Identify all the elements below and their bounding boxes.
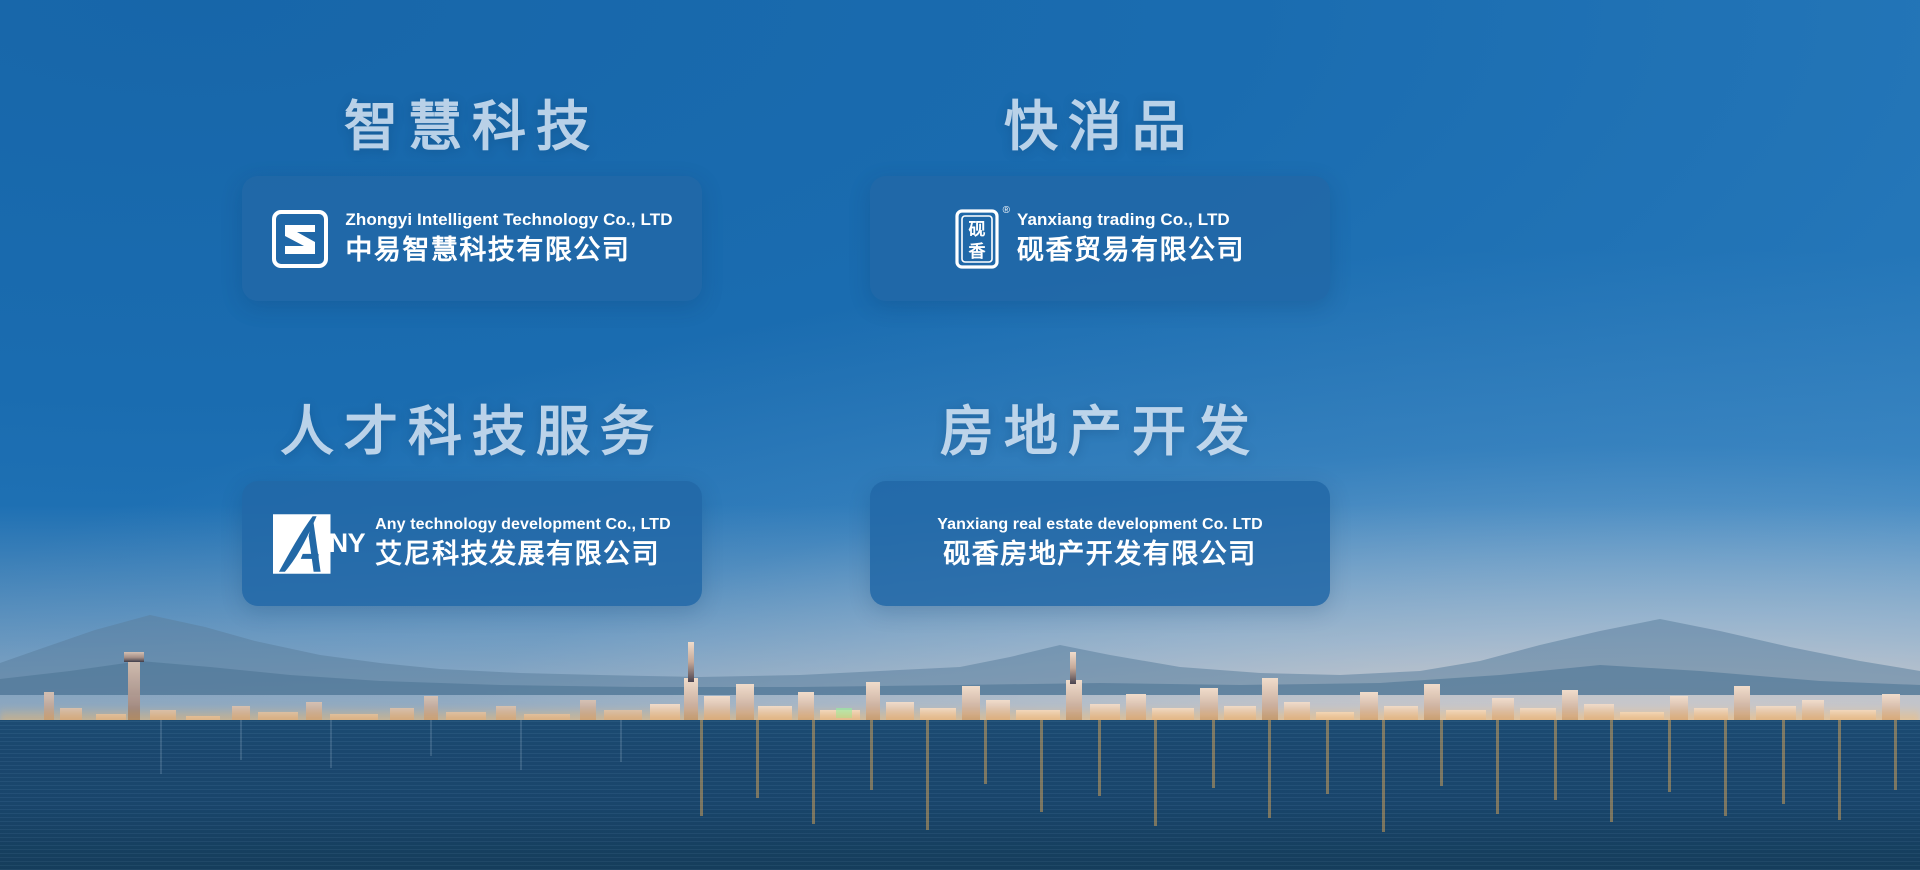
segment-fmcg: 快消品 砚 香 ® Yanxiang trading Co., LTD bbox=[870, 100, 1330, 301]
company-names-zhongyi: Zhongyi Intelligent Technology Co., LTD … bbox=[345, 209, 672, 267]
segment-smart-technology: 智慧科技 Zhongyi Intelligent Technology Co.,… bbox=[242, 100, 702, 301]
segment-title-real-estate: 房地产开发 bbox=[870, 405, 1330, 459]
registered-trademark-icon: ® bbox=[1003, 206, 1010, 216]
segment-real-estate: 房地产开发 Yanxiang real estate development C… bbox=[870, 405, 1330, 606]
company-names-any: Any technology development Co., LTD 艾尼科技… bbox=[375, 515, 671, 572]
company-names-yanxiang-real-estate: Yanxiang real estate development Co. LTD… bbox=[937, 515, 1263, 572]
company-name-cn-zhongyi: 中易智慧科技有限公司 bbox=[345, 233, 672, 268]
banner-root: 智慧科技 Zhongyi Intelligent Technology Co.,… bbox=[0, 0, 1920, 870]
segment-talent-services: 人才科技服务 NY Any technology development Co.… bbox=[242, 405, 702, 606]
segments-grid: 智慧科技 Zhongyi Intelligent Technology Co.,… bbox=[0, 0, 1920, 870]
svg-text:砚: 砚 bbox=[969, 220, 986, 240]
zhongyi-z-logo-icon bbox=[271, 210, 329, 268]
segment-title-smart-technology: 智慧科技 bbox=[242, 100, 702, 154]
company-name-en-yanxiang-real-estate: Yanxiang real estate development Co. LTD bbox=[937, 515, 1263, 535]
company-name-en-zhongyi: Zhongyi Intelligent Technology Co., LTD bbox=[345, 209, 672, 230]
any-logo-wordmark: NY bbox=[329, 528, 366, 559]
company-names-yanxiang-trading: Yanxiang trading Co., LTD 砚香贸易有限公司 bbox=[1017, 209, 1245, 267]
svg-text:香: 香 bbox=[969, 242, 986, 262]
company-name-cn-yanxiang-real-estate: 砚香房地产开发有限公司 bbox=[943, 537, 1257, 572]
company-card-yanxiang-trading[interactable]: 砚 香 ® Yanxiang trading Co., LTD 砚香贸易有限公司 bbox=[870, 176, 1330, 301]
company-name-en-any: Any technology development Co., LTD bbox=[375, 515, 671, 535]
company-card-any[interactable]: NY Any technology development Co., LTD 艾… bbox=[242, 481, 702, 606]
company-name-cn-yanxiang-trading: 砚香贸易有限公司 bbox=[1017, 233, 1245, 268]
company-name-cn-any: 艾尼科技发展有限公司 bbox=[375, 537, 671, 572]
company-card-yanxiang-real-estate[interactable]: Yanxiang real estate development Co. LTD… bbox=[870, 481, 1330, 606]
segment-title-talent-services: 人才科技服务 bbox=[242, 405, 702, 459]
segment-title-fmcg: 快消品 bbox=[870, 100, 1330, 154]
company-card-zhongyi[interactable]: Zhongyi Intelligent Technology Co., LTD … bbox=[242, 176, 702, 301]
yanxiang-seal-logo-icon: 砚 香 ® bbox=[955, 208, 1001, 270]
company-name-en-yanxiang-trading: Yanxiang trading Co., LTD bbox=[1017, 209, 1245, 230]
any-logo-icon: NY bbox=[273, 514, 365, 574]
